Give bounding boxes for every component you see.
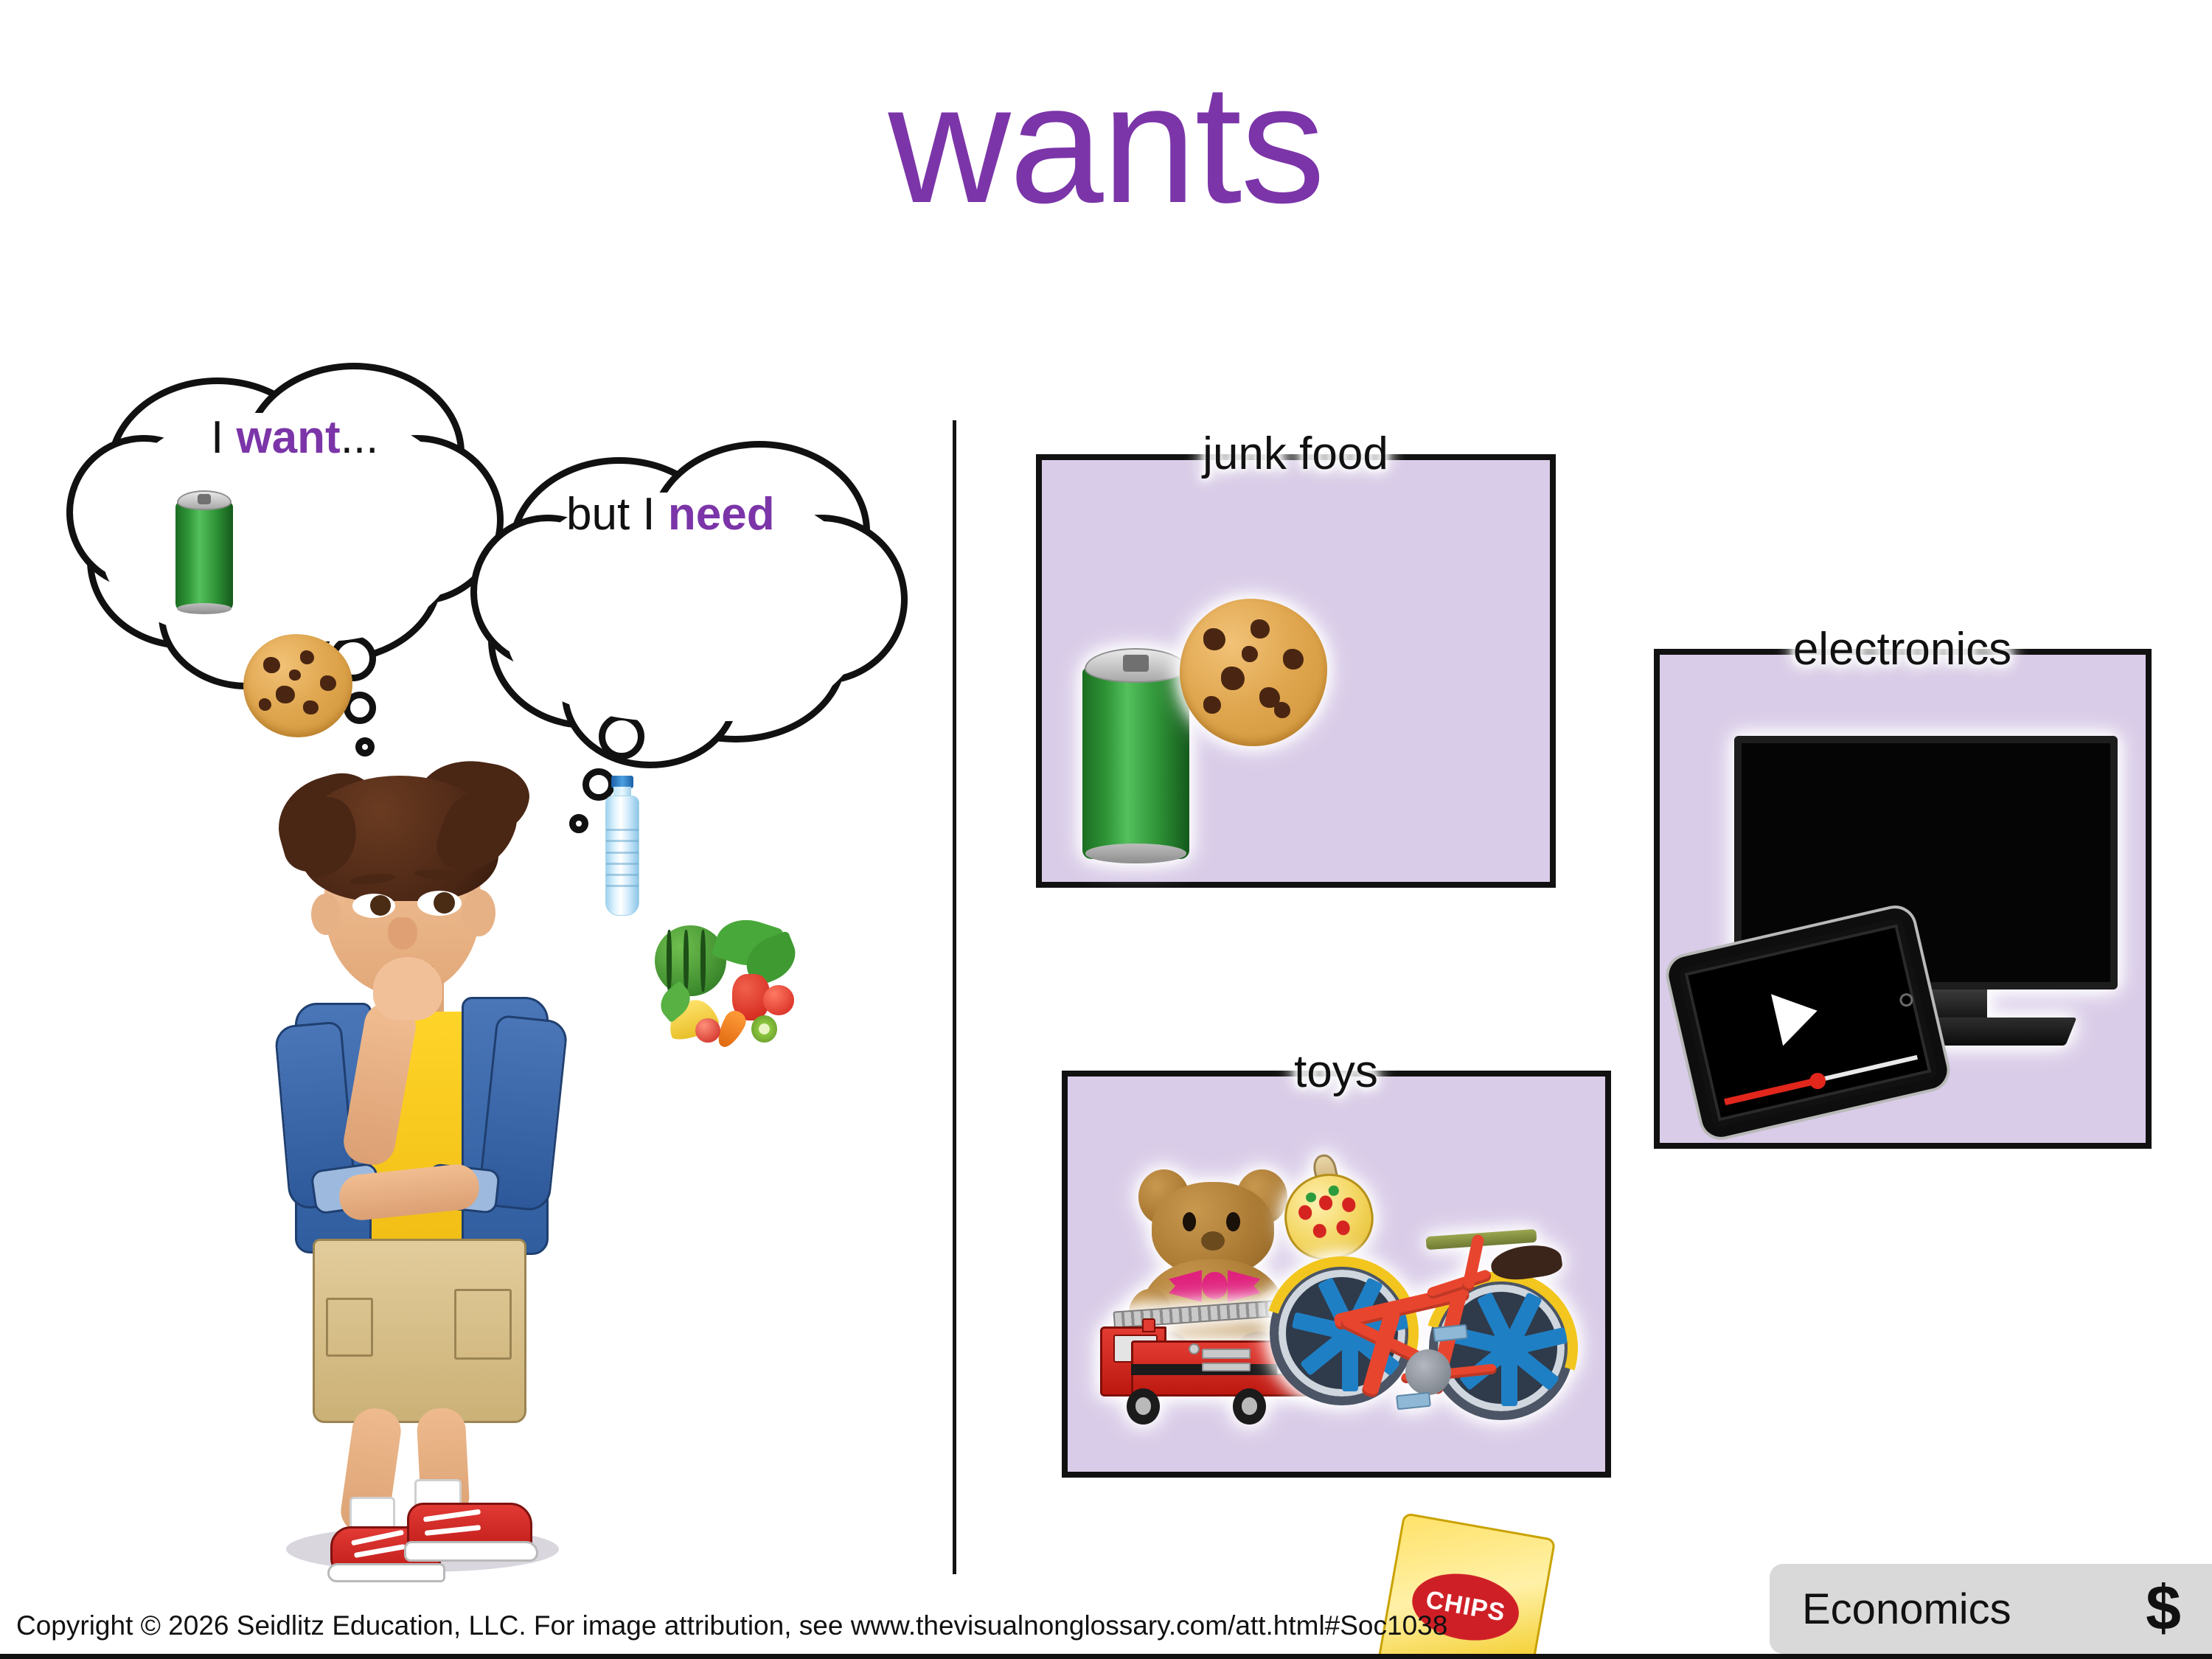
bicycle-seat (1489, 1242, 1563, 1284)
panel-label-junk-food: junk food (1195, 428, 1396, 480)
cookie-art (1180, 599, 1327, 746)
boy-hand (373, 957, 442, 1020)
poster-canvas: wants I want... (0, 0, 2212, 1659)
cookie-thumb (243, 634, 352, 737)
fruits-vegetables-thumb (649, 914, 804, 1051)
footer-rule (0, 1654, 2212, 1659)
thought-tail-dot (599, 714, 644, 759)
bubble-need-text: but I need (566, 488, 775, 540)
page-title: wants (0, 59, 2212, 229)
vertical-divider (953, 420, 956, 1574)
thought-tail-dot (355, 737, 375, 757)
bubble-want-text: I want... (211, 411, 378, 464)
soda-can-art (1082, 641, 1189, 859)
soda-can-thumb (175, 487, 233, 612)
boy-eye (434, 892, 455, 914)
dollar-sign-icon: $ (2146, 1580, 2181, 1637)
subject-badge[interactable]: Economics $ (1770, 1564, 2212, 1654)
water-bottle-thumb (599, 776, 646, 916)
panel-label-toys: toys (1287, 1046, 1385, 1098)
subject-label: Economics (1802, 1585, 2011, 1634)
bicycle-art (1270, 1189, 1579, 1432)
boy-eye (370, 895, 391, 916)
panel-label-electronics: electronics (1786, 623, 2019, 675)
copyright-text: Copyright © 2026 Seidlitz Education, LLC… (16, 1610, 1447, 1641)
thinking-boy-illustration (243, 759, 656, 1593)
